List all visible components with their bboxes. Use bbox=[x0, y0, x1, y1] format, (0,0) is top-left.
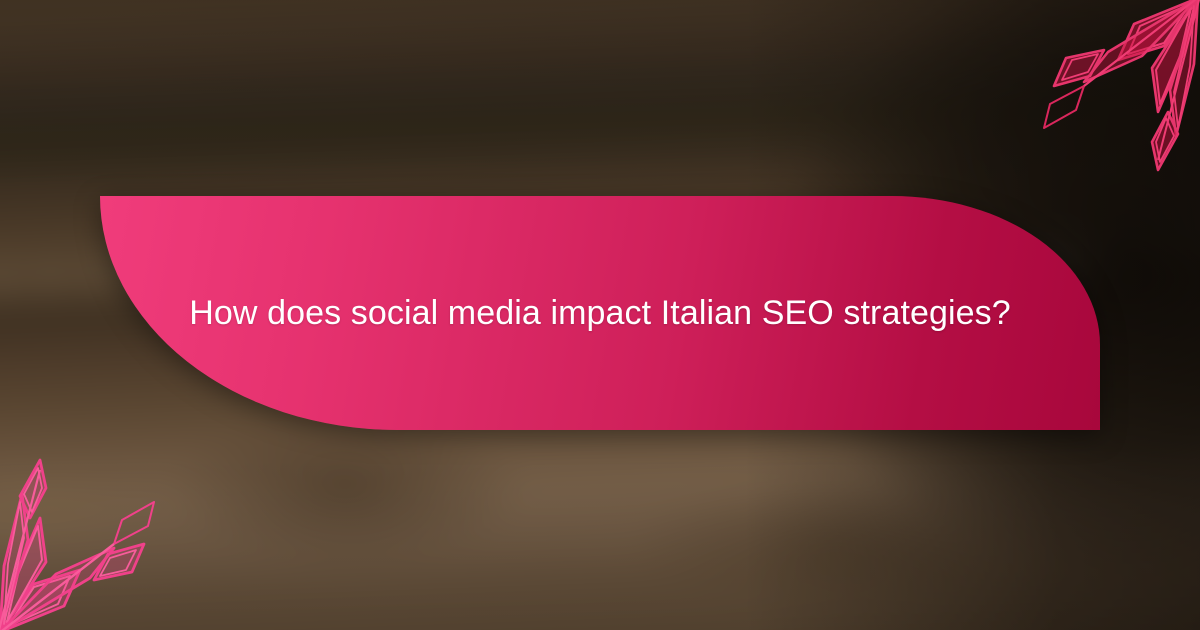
social-share-card: How does social media impact Italian SEO… bbox=[0, 0, 1200, 630]
headline-text: How does social media impact Italian SEO… bbox=[160, 196, 1040, 430]
